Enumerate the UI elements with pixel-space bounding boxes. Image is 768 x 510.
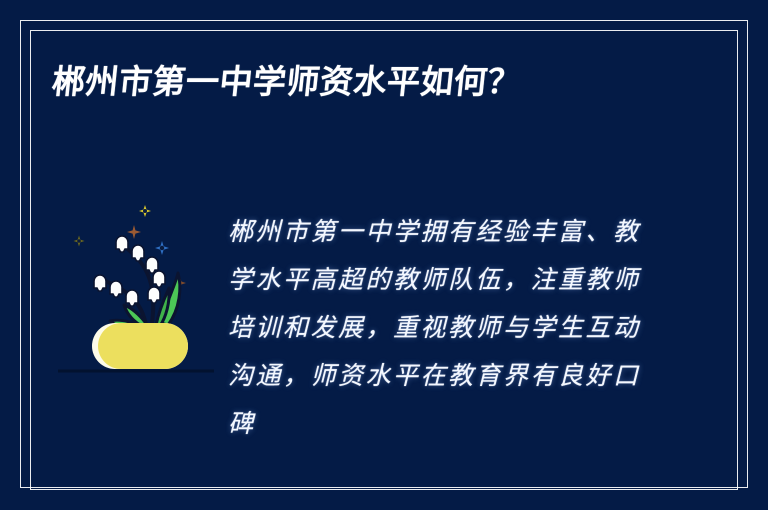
flower-bell xyxy=(153,271,165,287)
page-title: 郴州市第一中学师资水平如何？ xyxy=(50,62,523,102)
sparkle-olive-icon xyxy=(74,236,85,247)
flower-bell xyxy=(146,257,158,273)
flower-pot xyxy=(92,323,188,369)
body-paragraph: 郴州市第一中学拥有经验丰富、教学水平高超的教师队伍，注重教师培训和发展，重视教师… xyxy=(228,208,658,448)
poster-card: 郴州市第一中学师资水平如何？ xyxy=(0,0,768,510)
lily-of-the-valley-illustration xyxy=(56,195,216,380)
leaf-group xyxy=(110,273,180,330)
sparkle-yellow-icon xyxy=(139,205,151,217)
flower-bell xyxy=(126,290,138,306)
sparkle-blue-icon xyxy=(155,241,169,255)
plant-graphic xyxy=(56,195,216,380)
pot-body xyxy=(98,323,188,369)
flower-bell xyxy=(132,245,144,261)
flower-bell xyxy=(94,275,106,291)
flower-group xyxy=(94,236,165,306)
sparkle-group xyxy=(74,205,187,289)
flower-bell xyxy=(148,287,160,303)
flower-bell xyxy=(116,236,128,252)
sparkle-rust-icon xyxy=(127,225,141,239)
flower-bell xyxy=(110,281,122,297)
